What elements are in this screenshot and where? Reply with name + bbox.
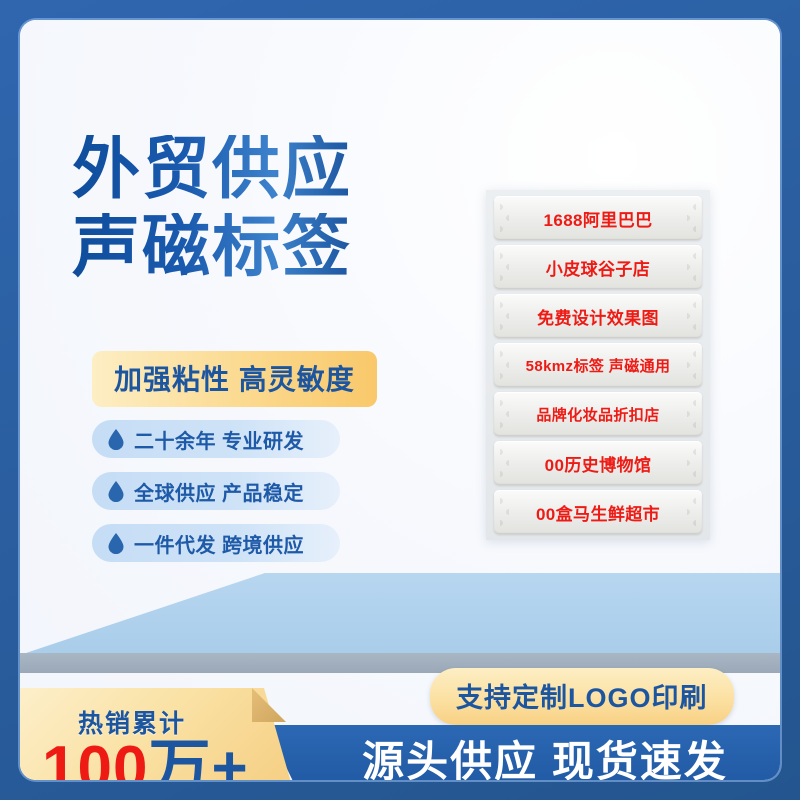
banner-inner-panel: 外贸供应 声磁标签 加强粘性 高灵敏度 二十余年 专业研发 全球供应 产品 — [20, 20, 780, 780]
eas-tag-text-4: 品牌化妆品折扣店 — [536, 404, 659, 425]
feature-list: 二十余年 专业研发 全球供应 产品稳定 一件代发 跨境供应 — [92, 420, 340, 576]
feature-item-1: 全球供应 产品稳定 — [92, 472, 340, 510]
custom-logo-badge: 支持定制LOGO印刷 — [430, 668, 734, 725]
feature-item-0: 二十余年 专业研发 — [92, 420, 340, 458]
eas-tag-text-3: 58kmz标签 声磁通用 — [526, 355, 671, 376]
eas-tag-1: 小皮球谷子店 — [494, 245, 702, 289]
eas-tag-text-6: 00盒马生鲜超市 — [536, 500, 660, 525]
eas-tag-2: 免费设计效果图 — [494, 294, 702, 338]
product-tag-stack: 1688阿里巴巴 小皮球谷子店 免费设计效果图 58kmz标签 声磁通用 品牌化… — [486, 190, 710, 540]
eas-tag-3: 58kmz标签 声磁通用 — [494, 343, 702, 387]
banner-frame: 外贸供应 声磁标签 加强粘性 高灵敏度 二十余年 专业研发 全球供应 产品 — [0, 0, 800, 800]
headline-line-1: 外贸供应 — [72, 135, 352, 203]
eas-tag-6: 00盒马生鲜超市 — [494, 490, 702, 534]
eas-tag-text-2: 免费设计效果图 — [537, 304, 659, 329]
feature-label-2: 一件代发 跨境供应 — [134, 529, 304, 558]
sales-banner-number: 100万+ — [42, 738, 249, 780]
sales-count-value: 100 — [42, 734, 148, 780]
page-title: 外贸供应 声磁标签 — [72, 135, 352, 291]
eas-tag-text-5: 00历史博物馆 — [545, 451, 652, 476]
eas-tag-5: 00历史博物馆 — [494, 441, 702, 485]
feature-item-2: 一件代发 跨境供应 — [92, 524, 340, 562]
eas-tag-text-1: 小皮球谷子店 — [546, 255, 650, 280]
subtitle-badge: 加强粘性 高灵敏度 — [92, 351, 377, 407]
eas-tag-text-0: 1688阿里巴巴 — [543, 206, 652, 231]
feature-label-1: 全球供应 产品稳定 — [134, 477, 304, 506]
bottom-ribbon-label: 源头供应 现货速发 — [310, 728, 780, 780]
water-drop-icon — [108, 429, 124, 450]
product-banner: 外贸供应 声磁标签 加强粘性 高灵敏度 二十余年 专业研发 全球供应 产品 — [0, 0, 800, 800]
sales-count-unit: 万+ — [148, 734, 248, 780]
water-drop-icon — [108, 533, 124, 554]
feature-label-0: 二十余年 专业研发 — [134, 425, 304, 454]
eas-tag-4: 品牌化妆品折扣店 — [494, 392, 702, 436]
headline-line-2: 声磁标签 — [72, 213, 352, 281]
eas-tag-0: 1688阿里巴巴 — [494, 196, 702, 240]
water-drop-icon — [108, 481, 124, 502]
